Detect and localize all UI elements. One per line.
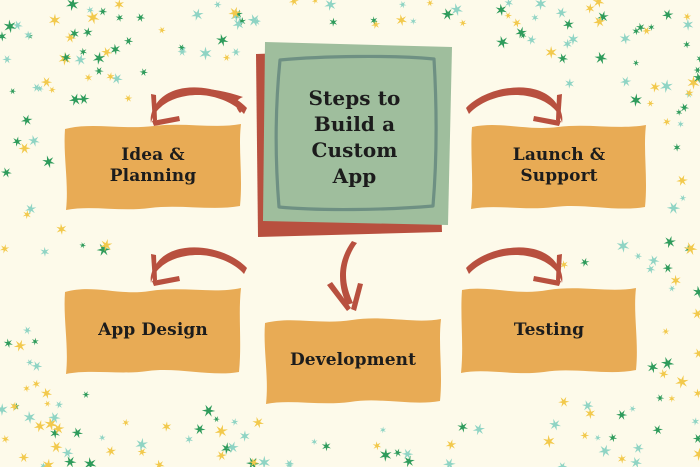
six-point-star-icon — [28, 135, 40, 147]
six-point-star-icon — [111, 73, 123, 84]
six-point-star-icon — [78, 94, 90, 105]
six-point-star-icon — [18, 453, 29, 463]
six-point-star-icon — [549, 419, 561, 431]
step-box-design-label: App Design — [62, 282, 244, 378]
six-point-star-icon — [158, 27, 166, 34]
six-point-star-icon — [1, 167, 12, 177]
six-point-star-icon — [48, 412, 60, 423]
six-point-star-icon — [527, 35, 537, 45]
six-point-star-icon — [79, 242, 86, 248]
six-point-star-icon — [594, 435, 601, 442]
six-point-star-icon — [322, 441, 331, 451]
six-point-star-icon — [618, 454, 627, 464]
six-point-star-icon — [504, 0, 513, 7]
six-point-star-icon — [13, 21, 23, 31]
six-point-star-icon — [568, 33, 579, 45]
six-point-star-icon — [14, 340, 26, 352]
six-point-star-icon — [106, 72, 115, 81]
six-point-star-icon — [40, 462, 47, 467]
six-point-star-icon — [630, 93, 642, 106]
six-point-star-icon — [675, 375, 688, 388]
six-point-star-icon — [311, 438, 317, 445]
six-point-star-icon — [86, 6, 94, 14]
six-point-star-icon — [56, 224, 66, 235]
six-point-star-icon — [2, 55, 12, 63]
six-point-star-icon — [671, 275, 681, 287]
six-point-star-icon — [99, 434, 106, 441]
six-point-star-icon — [9, 88, 16, 94]
six-point-star-icon — [636, 23, 645, 33]
six-point-star-icon — [693, 389, 700, 399]
six-point-star-icon — [370, 16, 377, 24]
six-point-star-icon — [50, 441, 62, 452]
six-point-star-icon — [179, 45, 186, 52]
infographic-canvas: Steps to Build a Custom App Idea & Plann… — [0, 0, 700, 467]
six-point-star-icon — [66, 0, 79, 11]
six-point-star-icon — [25, 203, 36, 214]
six-point-star-icon — [582, 400, 594, 411]
six-point-star-icon — [140, 68, 149, 76]
six-point-star-icon — [663, 264, 673, 273]
six-point-star-icon — [693, 72, 700, 83]
six-point-star-icon — [692, 417, 700, 425]
six-point-star-icon — [585, 3, 595, 13]
six-point-star-icon — [677, 120, 684, 127]
six-point-star-icon — [4, 20, 17, 33]
six-point-star-icon — [656, 394, 664, 402]
step-box-testing[interactable]: Testing — [458, 282, 640, 378]
six-point-star-icon — [32, 380, 40, 389]
six-point-star-icon — [597, 11, 609, 23]
six-point-star-icon — [403, 455, 415, 467]
six-point-star-icon — [620, 76, 631, 87]
six-point-star-icon — [213, 416, 220, 422]
six-point-star-icon — [585, 408, 595, 419]
six-point-star-icon — [679, 195, 686, 202]
six-point-star-icon — [24, 31, 33, 40]
six-point-star-icon — [457, 422, 468, 433]
six-point-star-icon — [504, 12, 512, 19]
six-point-star-icon — [185, 435, 193, 444]
six-point-star-icon — [124, 37, 133, 46]
six-point-star-icon — [246, 457, 260, 467]
six-point-star-icon — [178, 48, 188, 56]
six-point-star-icon — [371, 20, 380, 29]
six-point-star-icon — [380, 427, 386, 434]
curved-arrow-right-icon — [466, 247, 562, 286]
six-point-star-icon — [459, 19, 467, 26]
six-point-star-icon — [683, 13, 691, 21]
six-point-star-icon — [693, 434, 700, 443]
step-box-development[interactable]: Development — [262, 312, 444, 408]
six-point-star-icon — [515, 27, 527, 39]
six-point-star-icon — [31, 338, 38, 346]
six-point-star-icon — [373, 441, 382, 450]
six-point-star-icon — [42, 155, 55, 168]
six-point-star-icon — [676, 109, 683, 116]
six-point-star-icon — [512, 18, 522, 27]
six-point-star-icon — [84, 74, 92, 82]
six-point-star-icon — [648, 24, 655, 31]
six-point-star-icon — [10, 402, 19, 412]
step-box-idea-label: Idea & Planning — [62, 118, 244, 214]
six-point-star-icon — [441, 8, 454, 20]
six-point-star-icon — [79, 48, 87, 56]
six-point-star-icon — [21, 115, 33, 126]
six-point-star-icon — [661, 357, 674, 370]
six-point-star-icon — [194, 424, 206, 435]
six-point-star-icon — [23, 385, 30, 393]
six-point-star-icon — [62, 447, 74, 458]
six-point-star-icon — [593, 16, 605, 28]
six-point-star-icon — [32, 84, 42, 92]
six-point-star-icon — [238, 17, 246, 26]
six-point-star-icon — [685, 91, 693, 98]
six-point-star-icon — [135, 438, 148, 451]
six-point-star-icon — [94, 67, 103, 75]
six-point-star-icon — [652, 425, 663, 435]
six-point-star-icon — [191, 8, 203, 20]
six-point-star-icon — [593, 0, 605, 8]
six-point-star-icon — [233, 18, 245, 30]
six-point-star-icon — [426, 0, 433, 6]
six-point-star-icon — [1, 435, 9, 444]
six-point-star-icon — [692, 308, 700, 319]
curved-arrow-left-icon — [151, 247, 247, 286]
six-point-star-icon — [12, 137, 22, 147]
six-point-star-icon — [98, 7, 107, 15]
step-box-testing-label: Testing — [458, 282, 640, 378]
six-point-star-icon — [64, 456, 77, 467]
six-point-star-icon — [100, 239, 112, 252]
six-point-star-icon — [0, 244, 9, 253]
six-point-star-icon — [396, 14, 407, 26]
six-point-star-icon — [659, 369, 669, 379]
six-point-star-icon — [693, 286, 700, 299]
six-point-star-icon — [18, 143, 30, 154]
six-point-star-icon — [329, 18, 337, 27]
six-point-star-icon — [136, 13, 145, 22]
six-point-star-icon — [249, 458, 259, 467]
step-box-development-label: Development — [262, 312, 444, 408]
title-card-label: Steps to Build a Custom App — [252, 40, 457, 240]
six-point-star-icon — [42, 459, 54, 467]
six-point-star-icon — [399, 1, 407, 8]
six-point-star-icon — [646, 265, 656, 274]
six-point-star-icon — [49, 14, 61, 27]
six-point-star-icon — [543, 435, 555, 448]
six-point-star-icon — [648, 255, 660, 266]
six-point-star-icon — [402, 449, 414, 459]
six-point-star-icon — [520, 32, 527, 39]
six-point-star-icon — [93, 52, 105, 65]
step-box-idea[interactable]: Idea & Planning — [62, 118, 244, 214]
six-point-star-icon — [580, 432, 589, 440]
six-point-star-icon — [214, 1, 222, 8]
six-point-star-icon — [50, 428, 60, 439]
six-point-star-icon — [138, 448, 147, 457]
six-point-star-icon — [106, 446, 117, 457]
six-point-star-icon — [632, 27, 640, 35]
six-point-star-icon — [650, 82, 661, 93]
six-point-star-icon — [535, 0, 547, 10]
six-point-star-icon — [23, 210, 31, 219]
six-point-star-icon — [443, 458, 456, 467]
six-point-star-icon — [44, 401, 51, 407]
six-point-star-icon — [617, 239, 630, 253]
six-point-star-icon — [696, 55, 700, 63]
six-point-star-icon — [662, 9, 673, 20]
six-point-star-icon — [0, 31, 7, 41]
six-point-star-icon — [23, 326, 32, 334]
six-point-star-icon — [324, 0, 336, 11]
six-point-star-icon — [240, 430, 250, 441]
six-point-star-icon — [685, 89, 694, 98]
six-point-star-icon — [228, 7, 241, 19]
six-point-star-icon — [72, 428, 84, 439]
six-point-star-icon — [660, 79, 673, 93]
six-point-star-icon — [59, 52, 72, 66]
six-point-star-icon — [114, 0, 124, 10]
six-point-star-icon — [668, 285, 675, 292]
six-point-star-icon — [684, 242, 698, 255]
six-point-star-icon — [556, 7, 568, 18]
six-point-star-icon — [647, 361, 658, 373]
six-point-star-icon — [642, 27, 651, 35]
six-point-star-icon — [546, 46, 557, 59]
six-point-star-icon — [630, 457, 642, 467]
six-point-star-icon — [683, 19, 694, 31]
step-box-launch-label: Launch & Support — [468, 118, 650, 214]
six-point-star-icon — [565, 78, 574, 88]
six-point-star-icon — [289, 0, 299, 6]
six-point-star-icon — [41, 77, 52, 87]
six-point-star-icon — [633, 60, 640, 67]
six-point-star-icon — [61, 52, 71, 62]
six-point-star-icon — [31, 361, 42, 371]
six-point-star-icon — [599, 445, 612, 458]
six-point-star-icon — [70, 28, 80, 39]
six-point-star-icon — [52, 423, 64, 435]
six-point-star-icon — [116, 14, 124, 22]
six-point-star-icon — [86, 11, 99, 24]
six-point-star-icon — [82, 391, 90, 398]
six-point-star-icon — [4, 339, 13, 349]
six-point-star-icon — [609, 433, 618, 442]
six-point-star-icon — [110, 44, 121, 55]
six-point-star-icon — [44, 417, 57, 431]
six-point-star-icon — [248, 14, 261, 27]
six-point-star-icon — [693, 448, 700, 461]
six-point-star-icon — [558, 397, 569, 407]
six-point-star-icon — [215, 425, 228, 438]
six-point-star-icon — [122, 419, 129, 427]
six-point-star-icon — [124, 95, 132, 103]
six-point-star-icon — [620, 33, 631, 45]
six-point-star-icon — [669, 395, 676, 403]
six-point-star-icon — [580, 258, 589, 267]
six-point-star-icon — [557, 53, 568, 63]
step-box-launch[interactable]: Launch & Support — [468, 118, 650, 214]
six-point-star-icon — [688, 76, 700, 90]
six-point-star-icon — [0, 403, 8, 416]
six-point-star-icon — [450, 3, 463, 16]
six-point-star-icon — [24, 411, 36, 424]
six-point-star-icon — [41, 388, 52, 399]
six-point-star-icon — [563, 39, 572, 49]
six-point-star-icon — [667, 202, 680, 214]
six-point-star-icon — [685, 245, 692, 253]
six-point-star-icon — [258, 456, 270, 467]
six-point-star-icon — [380, 448, 392, 461]
six-point-star-icon — [36, 85, 44, 92]
title-card[interactable]: Steps to Build a Custom App — [252, 40, 457, 240]
curved-arrow-down-icon — [327, 241, 363, 311]
six-point-star-icon — [83, 27, 93, 37]
six-point-star-icon — [633, 443, 644, 454]
six-point-star-icon — [55, 401, 63, 409]
six-point-star-icon — [680, 103, 689, 112]
six-point-star-icon — [616, 410, 627, 420]
six-point-star-icon — [202, 405, 216, 417]
six-point-star-icon — [231, 9, 242, 22]
six-point-star-icon — [663, 118, 671, 126]
six-point-star-icon — [557, 462, 567, 467]
six-point-star-icon — [693, 349, 700, 359]
six-point-star-icon — [286, 462, 294, 467]
six-point-star-icon — [101, 47, 112, 58]
six-point-star-icon — [216, 451, 227, 461]
six-point-star-icon — [223, 54, 231, 61]
six-point-star-icon — [629, 405, 636, 412]
six-point-star-icon — [496, 4, 507, 16]
six-point-star-icon — [12, 403, 20, 411]
six-point-star-icon — [694, 67, 700, 74]
six-point-star-icon — [252, 18, 260, 26]
six-point-star-icon — [410, 18, 416, 25]
six-point-star-icon — [560, 260, 568, 269]
six-point-star-icon — [473, 423, 485, 435]
six-point-star-icon — [216, 34, 228, 47]
six-point-star-icon — [74, 54, 86, 66]
six-point-star-icon — [154, 460, 164, 467]
six-point-star-icon — [662, 328, 670, 336]
six-point-star-icon — [26, 32, 34, 40]
six-point-star-icon — [634, 253, 642, 260]
six-point-star-icon — [26, 359, 34, 366]
six-point-star-icon — [393, 449, 402, 458]
six-point-star-icon — [664, 236, 676, 248]
six-point-star-icon — [531, 14, 538, 22]
six-point-star-icon — [252, 417, 264, 428]
six-point-star-icon — [97, 243, 111, 256]
six-point-star-icon — [676, 175, 688, 186]
six-point-star-icon — [496, 36, 509, 49]
six-point-star-icon — [231, 48, 240, 56]
six-point-star-icon — [595, 52, 608, 64]
six-point-star-icon — [49, 86, 56, 93]
six-point-star-icon — [231, 418, 239, 426]
six-point-star-icon — [312, 0, 319, 4]
six-point-star-icon — [446, 439, 457, 450]
six-point-star-icon — [200, 47, 212, 61]
six-point-star-icon — [234, 10, 243, 19]
six-point-star-icon — [227, 442, 239, 454]
six-point-star-icon — [65, 32, 76, 42]
six-point-star-icon — [40, 247, 49, 257]
step-box-design[interactable]: App Design — [62, 282, 244, 378]
six-point-star-icon — [34, 420, 46, 432]
six-point-star-icon — [673, 143, 680, 151]
six-point-star-icon — [69, 94, 82, 106]
six-point-star-icon — [683, 41, 690, 49]
six-point-star-icon — [221, 442, 232, 454]
six-point-star-icon — [647, 100, 655, 107]
six-point-star-icon — [563, 19, 574, 30]
six-point-star-icon — [84, 457, 96, 467]
six-point-star-icon — [178, 44, 186, 51]
six-point-star-icon — [162, 421, 172, 431]
six-point-star-icon — [285, 460, 295, 467]
